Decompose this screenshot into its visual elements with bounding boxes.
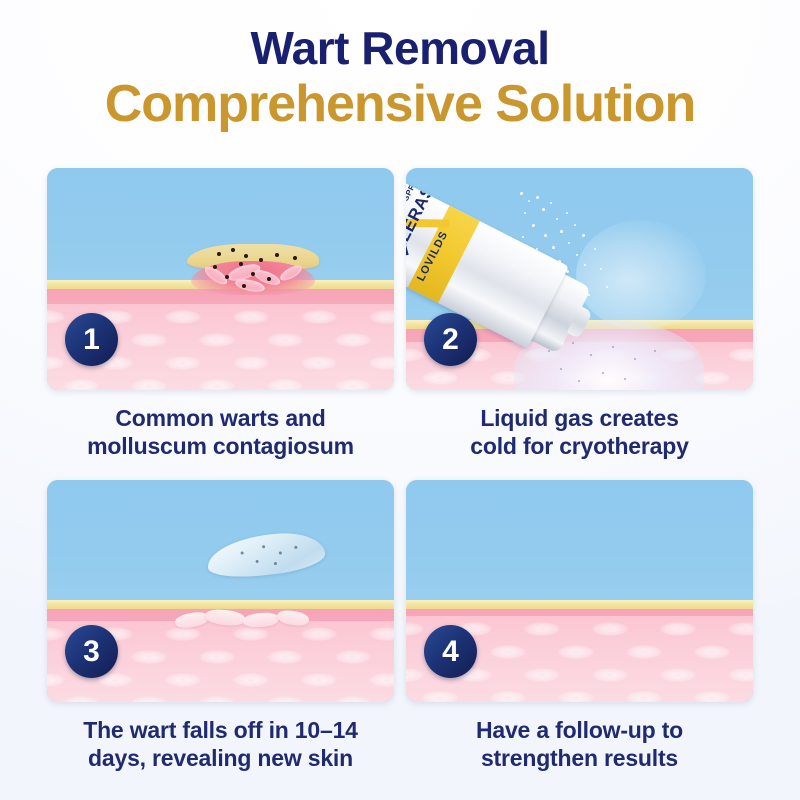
step-caption-4-line2: strengthen results: [406, 744, 753, 772]
step-caption-1: Common warts and molluscum contagiosum: [47, 404, 394, 460]
step-illustration-4: 4: [406, 480, 753, 702]
step-caption-3: The wart falls off in 10–14 days, reveal…: [47, 716, 394, 772]
step-caption-2-line2: cold for cryotherapy: [406, 432, 753, 460]
epidermis-layer: [47, 600, 394, 609]
title-line-primary: Wart Removal: [0, 24, 800, 74]
page-title: Wart Removal Comprehensive Solution: [0, 24, 800, 133]
step-illustration-1: 1: [47, 168, 394, 390]
wart-lesion: [187, 244, 319, 298]
step-caption-2-line1: Liquid gas creates: [406, 404, 753, 432]
step-card-4: 4 Have a follow-up to strengthen results: [406, 480, 753, 772]
step-caption-3-line1: The wart falls off in 10–14: [47, 716, 394, 744]
steps-grid: 1 Common warts and molluscum contagiosum: [47, 168, 753, 772]
step-caption-4: Have a follow-up to strengthen results: [406, 716, 753, 772]
step-card-1: 1 Common warts and molluscum contagiosum: [47, 168, 394, 460]
epidermis-layer: [406, 600, 753, 609]
step-caption-2: Liquid gas creates cold for cryotherapy: [406, 404, 753, 460]
steps-row-top: 1 Common warts and molluscum contagiosum: [47, 168, 753, 460]
step-illustration-3: 3: [47, 480, 394, 702]
step-card-3: 3 The wart falls off in 10–14 days, reve…: [47, 480, 394, 772]
step-caption-1-line1: Common warts and: [47, 404, 394, 432]
step-badge-3: 3: [65, 625, 118, 678]
step-caption-3-line2: days, revealing new skin: [47, 744, 394, 772]
background-sky: [47, 480, 394, 604]
step-caption-1-line2: molluscum contagiosum: [47, 432, 394, 460]
step-badge-1: 1: [65, 313, 118, 366]
step-card-2: LOVILDS CHILLERASE BUMP REMOVAL SPRAY • …: [406, 168, 753, 460]
steps-row-bottom: 3 The wart falls off in 10–14 days, reve…: [47, 480, 753, 772]
step-badge-4: 4: [424, 625, 477, 678]
background-sky: [406, 480, 753, 604]
title-line-secondary: Comprehensive Solution: [0, 76, 800, 133]
step-badge-2: 2: [424, 313, 477, 366]
step-illustration-2: LOVILDS CHILLERASE BUMP REMOVAL SPRAY • …: [406, 168, 753, 390]
step-caption-4-line1: Have a follow-up to: [406, 716, 753, 744]
